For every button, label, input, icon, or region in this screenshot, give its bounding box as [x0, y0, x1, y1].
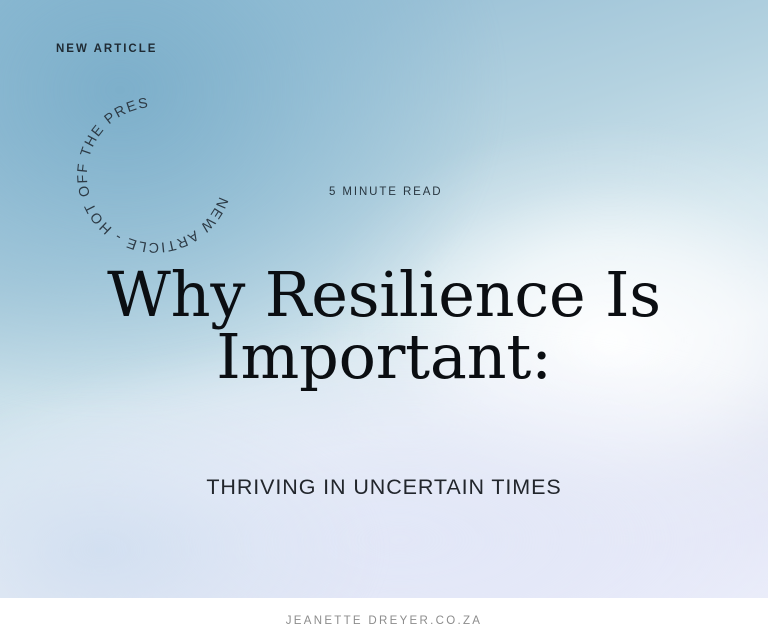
read-time-label: 5 MINUTE READ	[329, 186, 443, 198]
subtitle: THRIVING IN UNCERTAIN TIMES	[0, 475, 768, 500]
eyebrow-label: NEW ARTICLE	[56, 43, 157, 55]
footer-website-url: JEANETTE DREYER.CO.ZA	[286, 615, 483, 627]
headline-line-1: Why Resilience Is	[0, 264, 768, 325]
circular-stamp-textpath: NEW ARTICLE - HOT OFF THE PRESS -	[67, 81, 230, 255]
page-title: Why Resilience Is Important:	[0, 264, 768, 388]
circular-stamp-text: NEW ARTICLE - HOT OFF THE PRESS -	[67, 81, 230, 255]
article-promo-poster: NEW ARTICLE NEW ARTICLE - HOT OFF THE PR…	[0, 0, 768, 644]
circular-stamp-badge: NEW ARTICLE - HOT OFF THE PRESS -	[73, 93, 237, 257]
headline-line-2: Important:	[0, 326, 768, 387]
footer-bar: JEANETTE DREYER.CO.ZA	[0, 598, 768, 644]
